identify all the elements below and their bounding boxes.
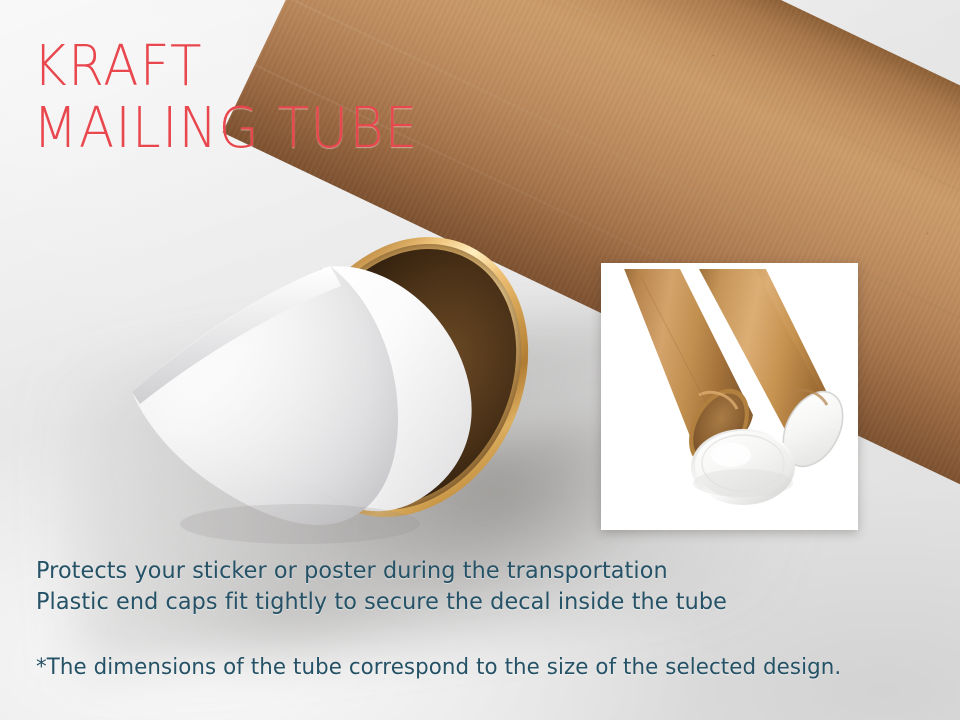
footnote-text: *The dimensions of the tube correspond t… [36,655,841,680]
inset-product-photo [601,263,858,530]
poster-front-curl [132,266,398,525]
poster-leading-edge [132,266,341,404]
inset-tubes-illustration [607,269,852,524]
inset-photo-content [607,269,852,524]
poster-canvas: KRAFT MAILING TUBE Protects your sticker… [0,0,960,720]
inset-loose-end-cap [691,429,795,505]
poster-drop-shadow [180,504,420,544]
tube-interior-shadow [257,213,557,542]
rim-inner-ring [250,206,564,548]
poster-inner-face [318,266,472,511]
feature-copy: Protects your sticker or poster during t… [36,556,727,618]
tube-mouth-rim [241,197,573,558]
rim-outer-ring [241,197,573,558]
poster-shading [132,266,398,525]
page-title: KRAFT MAILING TUBE [33,36,419,160]
poster-underside [132,268,367,486]
